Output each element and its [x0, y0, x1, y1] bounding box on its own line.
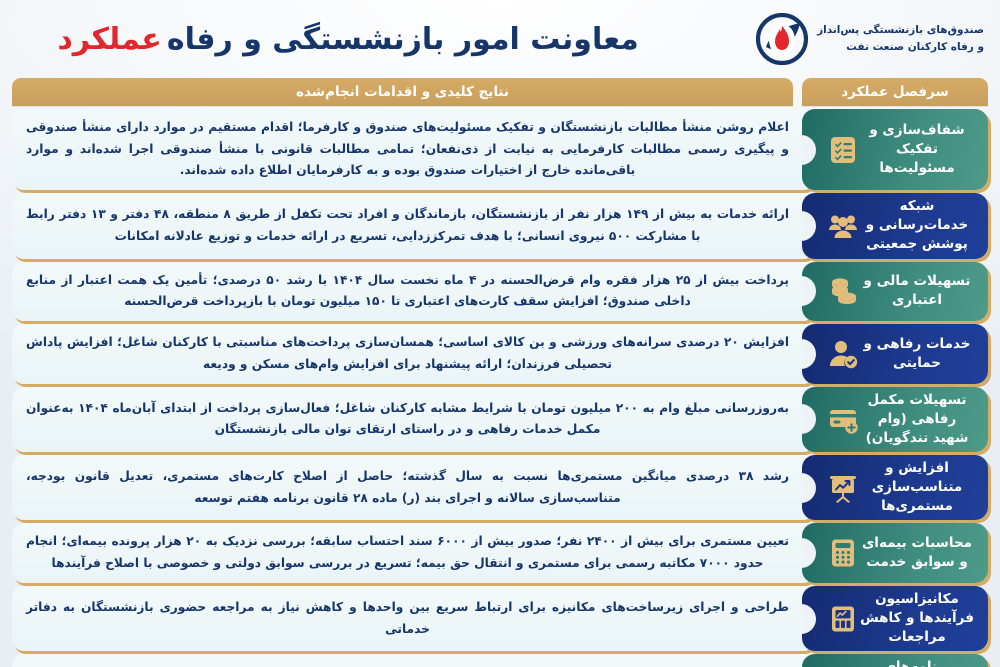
row-results-card: رشد ۳۸ درصدی میانگین مستمری‌ها نسبت به س…: [12, 455, 815, 520]
row-results-text: افزایش ۲۰ درصدی سرانه‌های ورزشی و بن کال…: [26, 332, 789, 375]
row-results-text: اعلام روشن منشأ مطالبات بازنشستگان و تفک…: [26, 117, 789, 182]
row-results-text: طراحی و اجرای زیرساخت‌های مکانیزه برای ا…: [26, 597, 789, 640]
row-category-label: تسهیلات مکمل رفاهی (وام شهید تندگویان): [858, 391, 976, 448]
calculator-icon: [828, 538, 858, 568]
page-title-rest: معاونت امور بازنشستگی و رفاه: [167, 22, 639, 57]
organization-name: صندوق‌های بازنشستگی پس‌انداز و رفاه کارک…: [817, 22, 984, 56]
organization-name-line2: و رفاه کارکنان صنعت نفت: [817, 39, 984, 56]
credit-card-plus-icon: [828, 404, 858, 434]
row-category-label: تسهیلات مالی و اعتباری: [858, 272, 976, 310]
column-header-results: نتایج کلیدی و اقدامات انجام‌شده: [12, 78, 793, 106]
organization-logo-block: صندوق‌های بازنشستگی پس‌انداز و رفاه کارک…: [756, 13, 984, 65]
performance-row: خدمات رفاهی و حمایتی افزایش ۲۰ درصدی سرا…: [12, 324, 988, 383]
row-category-pill[interactable]: افزایش و متناسب‌سازی مستمری‌ها: [802, 455, 988, 520]
presentation-chart-icon: [828, 473, 858, 503]
row-results-card: ارائه خدمات به بیش از ۱۴۹ هزار نفر از با…: [12, 193, 815, 258]
column-header-category: سرفصل عملکرد: [802, 78, 988, 106]
performance-row: محاسبات بیمه‌ای و سوابق خدمت تعیین مستمر…: [12, 523, 988, 582]
performance-row: شفاف‌سازی و تفکیک مسئولیت‌ها اعلام روشن …: [12, 109, 988, 190]
row-results-card: تعیین مستمری برای بیش از ۲۴۰۰ نفر؛ صدور …: [12, 523, 815, 582]
page-title: معاونت امور بازنشستگی و رفاه عملکرد: [30, 22, 756, 57]
performance-row: برنامه‌های ورزشی و گردشگری تخصیص ۳۲ میلی…: [12, 654, 988, 667]
row-category-label: شبکه خدمات‌رسانی و پوشش جمعیتی: [858, 197, 976, 254]
row-category-pill[interactable]: شبکه خدمات‌رسانی و پوشش جمعیتی: [802, 193, 988, 258]
row-results-text: ارائه خدمات به بیش از ۱۴۹ هزار نفر از با…: [26, 204, 789, 247]
row-results-card: اعلام روشن منشأ مطالبات بازنشستگان و تفک…: [12, 109, 815, 190]
server-rack-icon: [828, 604, 858, 634]
performance-row: افزایش و متناسب‌سازی مستمری‌ها رشد ۳۸ در…: [12, 455, 988, 520]
row-results-card: طراحی و اجرای زیرساخت‌های مکانیزه برای ا…: [12, 586, 815, 651]
row-results-card: تخصیص ۳۲ میلیارد تومان اعتبار برای توسعه…: [12, 654, 815, 667]
row-results-text: رشد ۳۸ درصدی میانگین مستمری‌ها نسبت به س…: [26, 466, 789, 509]
row-results-text: تعیین مستمری برای بیش از ۲۴۰۰ نفر؛ صدور …: [26, 531, 789, 574]
performance-rows: شفاف‌سازی و تفکیک مسئولیت‌ها اعلام روشن …: [0, 106, 1000, 667]
row-category-pill[interactable]: مکانیزاسیون فرآیندها و کاهش مراجعات: [802, 586, 988, 651]
row-results-text: پرداخت بیش از ۲۵ هزار فقره وام قرض‌الحسن…: [26, 270, 789, 313]
row-category-pill[interactable]: تسهیلات مالی و اعتباری: [802, 262, 988, 321]
page-title-highlight: عملکرد: [57, 22, 161, 57]
coins-stack-icon: [828, 276, 858, 306]
row-category-label: خدمات رفاهی و حمایتی: [858, 335, 976, 373]
row-category-label: شفاف‌سازی و تفکیک مسئولیت‌ها: [858, 121, 976, 178]
row-category-pill[interactable]: محاسبات بیمه‌ای و سوابق خدمت: [802, 523, 988, 582]
flame-in-circle-logo-icon: [756, 13, 808, 65]
performance-row: تسهیلات مالی و اعتباری پرداخت بیش از ۲۵ …: [12, 262, 988, 321]
row-category-label: افزایش و متناسب‌سازی مستمری‌ها: [858, 459, 976, 516]
page-header: صندوق‌های بازنشستگی پس‌انداز و رفاه کارک…: [0, 0, 1000, 78]
row-results-card: پرداخت بیش از ۲۵ هزار فقره وام قرض‌الحسن…: [12, 262, 815, 321]
table-column-headers: سرفصل عملکرد نتایج کلیدی و اقدامات انجام…: [0, 78, 1000, 106]
organization-name-line1: صندوق‌های بازنشستگی پس‌انداز: [817, 22, 984, 39]
row-category-label: محاسبات بیمه‌ای و سوابق خدمت: [858, 534, 976, 572]
row-results-card: به‌روزرسانی مبلغ وام به ۲۰۰ میلیون تومان…: [12, 387, 815, 452]
row-category-label: مکانیزاسیون فرآیندها و کاهش مراجعات: [858, 590, 976, 647]
checklist-icon: [828, 135, 858, 165]
row-category-pill[interactable]: خدمات رفاهی و حمایتی: [802, 324, 988, 383]
row-category-label: برنامه‌های ورزشی و گردشگری: [858, 658, 976, 667]
performance-row: شبکه خدمات‌رسانی و پوشش جمعیتی ارائه خدم…: [12, 193, 988, 258]
people-group-icon: [828, 211, 858, 241]
row-category-pill[interactable]: برنامه‌های ورزشی و گردشگری: [802, 654, 988, 667]
row-category-pill[interactable]: شفاف‌سازی و تفکیک مسئولیت‌ها: [802, 109, 988, 190]
user-check-icon: [828, 339, 858, 369]
row-results-card: افزایش ۲۰ درصدی سرانه‌های ورزشی و بن کال…: [12, 324, 815, 383]
row-results-text: به‌روزرسانی مبلغ وام به ۲۰۰ میلیون تومان…: [26, 398, 789, 441]
performance-row: تسهیلات مکمل رفاهی (وام شهید تندگویان) ب…: [12, 387, 988, 452]
performance-row: مکانیزاسیون فرآیندها و کاهش مراجعات طراح…: [12, 586, 988, 651]
row-category-pill[interactable]: تسهیلات مکمل رفاهی (وام شهید تندگویان): [802, 387, 988, 452]
